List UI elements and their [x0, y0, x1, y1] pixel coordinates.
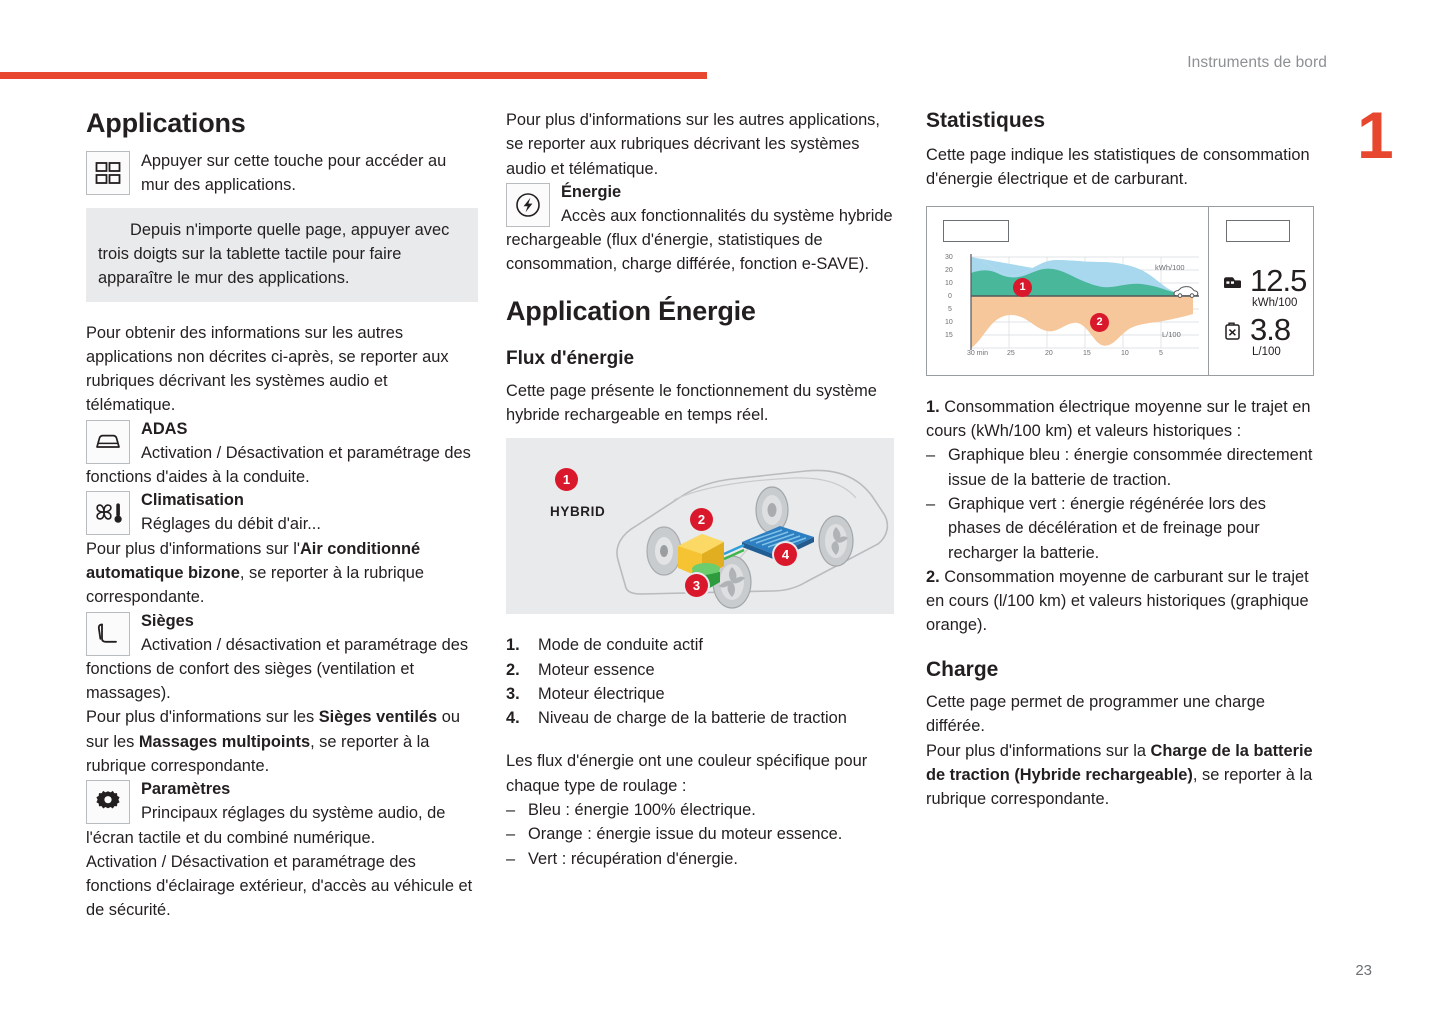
chart-callout-1: 1 — [1013, 278, 1032, 297]
dash-marker: – — [506, 847, 515, 871]
readout-electric-value: 12.5 — [1250, 265, 1306, 296]
chart-tab-placeholder — [943, 220, 1009, 242]
list-item-label: Bleu : énergie 100% électrique. — [528, 801, 756, 819]
dash-marker: – — [926, 492, 935, 516]
paragraph-other-apps: Pour obtenir des informations sur les au… — [86, 321, 478, 418]
paragraph-params-more: Activation / Désactivation et paramétrag… — [86, 850, 478, 923]
energy-flow-figure: HYBRID 1 2 3 4 — [506, 438, 894, 614]
list-item-label: Niveau de charge de la batterie de tract… — [538, 709, 847, 727]
dash-marker: – — [926, 443, 935, 467]
chart-unit-kwh-label: kWh/100 — [1155, 263, 1185, 272]
readout-fuel-unit: L/100 — [1252, 346, 1281, 358]
y-tick-neg-10: 10 — [945, 319, 953, 326]
list-item: –Graphique vert : énergie régénérée lors… — [926, 492, 1318, 565]
dash-marker: – — [506, 798, 515, 822]
sieges-more-part1: Pour plus d'informations sur les — [86, 708, 319, 726]
dash-marker: – — [506, 822, 515, 846]
list-item-label: Vert : récupération d'énergie. — [528, 850, 738, 868]
section-title-statistiques: Statistiques — [926, 108, 1318, 133]
list-item-number: 1. — [506, 633, 520, 657]
seat-icon — [86, 612, 130, 656]
entry-applications-text: Appuyer sur cette touche pour accéder au… — [141, 152, 446, 194]
energy-color-list: –Bleu : énergie 100% électrique. –Orange… — [506, 798, 898, 871]
chart-callout-2: 2 — [1090, 313, 1109, 332]
paragraph-colors-intro: Les flux d'énergie ont une couleur spéci… — [506, 749, 898, 798]
list-item: 4.Niveau de charge de la batterie de tra… — [506, 706, 898, 730]
entry-sieges-text: Activation / désactivation et paramétrag… — [86, 636, 468, 703]
figure-divider — [1208, 207, 1209, 375]
paragraph-sieges-more: Pour plus d'informations sur les Sièges … — [86, 705, 478, 778]
entry-parametres: Paramètres Principaux réglages du systèm… — [86, 778, 478, 850]
statistics-screen-figure: 30 20 10 0 5 10 15 30 min 25 20 15 10 5 … — [926, 206, 1314, 376]
section-title-charge: Charge — [926, 657, 1318, 682]
gear-icon — [86, 780, 130, 824]
readout-electric-unit: kWh/100 — [1252, 297, 1297, 309]
subsection-flux-energie: Flux d'énergie — [506, 348, 898, 371]
app-grid-icon — [86, 151, 130, 195]
fan-thermometer-icon — [86, 491, 130, 535]
energy-flow-legend-list: 1.Mode de conduite actif 2.Moteur essenc… — [506, 633, 898, 730]
entry-climatisation-text: Réglages du débit d'air... — [141, 515, 321, 533]
x-tick-25: 25 — [1007, 350, 1015, 357]
list-item-label: Mode de conduite actif — [538, 636, 703, 654]
chapter-number-tab: 1 — [1357, 104, 1383, 168]
y-tick-0: 0 — [948, 293, 952, 300]
note-2-number: 2. — [926, 568, 940, 586]
x-tick-20: 20 — [1045, 350, 1053, 357]
list-item-label: Moteur essence — [538, 661, 655, 679]
paragraph-note-1: 1. Consommation électrique moyenne sur l… — [926, 395, 1318, 444]
entry-adas-text: Activation / Désactivation et paramétrag… — [86, 444, 471, 486]
paragraph-clim-more: Pour plus d'informations sur l'Air condi… — [86, 537, 478, 610]
entry-energie: Énergie Accès aux fonctionnalités du sys… — [506, 181, 898, 277]
note-1-text: Consommation électrique moyenne sur le t… — [926, 398, 1310, 440]
running-header-title: Instruments de bord — [1187, 54, 1327, 72]
x-tick-10: 10 — [1121, 350, 1129, 357]
list-item: –Graphique bleu : énergie consommée dire… — [926, 443, 1318, 492]
x-tick-15: 15 — [1083, 350, 1091, 357]
list-item: 2.Moteur essence — [506, 658, 898, 682]
entry-climatisation-title: Climatisation — [86, 489, 478, 512]
clim-more-part1: Pour plus d'informations sur l' — [86, 540, 300, 558]
hybrid-mode-label: HYBRID — [550, 504, 605, 519]
list-item: 1.Mode de conduite actif — [506, 633, 898, 657]
column-middle: Pour plus d'informations sur les autres … — [506, 108, 898, 871]
manual-page: Instruments de bord 1 23 Applications Ap… — [0, 0, 1445, 1019]
x-tick-30min: 30 min — [967, 350, 988, 357]
readout-fuel-value: 3.8 — [1250, 314, 1290, 345]
entry-energie-title: Énergie — [506, 181, 898, 204]
entry-applications: Appuyer sur cette touche pour accéder au… — [86, 149, 478, 198]
info-note-text: Depuis n'importe quelle page, appuyer av… — [98, 221, 449, 288]
energy-bolt-icon — [506, 183, 550, 227]
list-item-number: 3. — [506, 682, 520, 706]
entry-sieges-title: Sièges — [86, 610, 478, 633]
y-tick-30: 30 — [945, 254, 953, 261]
entry-sieges: Sièges Activation / désactivation et par… — [86, 610, 478, 706]
fuel-can-icon — [1224, 322, 1241, 345]
page-number: 23 — [1355, 962, 1372, 979]
y-tick-neg-15: 15 — [945, 332, 953, 339]
entry-climatisation: Climatisation Réglages du débit d'air... — [86, 489, 478, 536]
list-item-label: Graphique vert : énergie régénérée lors … — [948, 495, 1266, 562]
paragraph-other-apps-2: Pour plus d'informations sur les autres … — [506, 108, 898, 181]
paragraph-charge-2: Pour plus d'informations sur la Charge d… — [926, 739, 1318, 812]
sieges-more-bold2: Massages multipoints — [139, 733, 310, 751]
entry-parametres-title: Paramètres — [86, 778, 478, 801]
y-tick-10: 10 — [945, 280, 953, 287]
paragraph-flux-intro: Cette page présente le fonctionnement du… — [506, 379, 898, 428]
y-tick-neg-5: 5 — [948, 306, 952, 313]
header-accent-rule — [0, 72, 707, 79]
note-2-text: Consommation moyenne de carburant sur le… — [926, 568, 1309, 635]
list-item-label: Orange : énergie issue du moteur essence… — [528, 825, 842, 843]
statistics-graph-legend: –Graphique bleu : énergie consommée dire… — [926, 443, 1318, 564]
paragraph-charge-1: Cette page permet de programmer une char… — [926, 690, 1318, 739]
column-right: Statistiques Cette page indique les stat… — [926, 108, 1318, 811]
battery-icon — [1223, 275, 1242, 294]
entry-adas-title: ADAS — [86, 418, 478, 441]
list-item: –Orange : énergie issue du moteur essenc… — [506, 822, 898, 846]
note-1-number: 1. — [926, 398, 940, 416]
list-item: –Bleu : énergie 100% électrique. — [506, 798, 898, 822]
charge-2-part1: Pour plus d'informations sur la — [926, 742, 1151, 760]
list-item-label: Moteur électrique — [538, 685, 665, 703]
paragraph-statistiques-intro: Cette page indique les statistiques de c… — [926, 143, 1318, 192]
list-item: 3.Moteur électrique — [506, 682, 898, 706]
sieges-more-bold1: Sièges ventilés — [319, 708, 437, 726]
x-tick-5: 5 — [1159, 350, 1163, 357]
list-item: –Vert : récupération d'énergie. — [506, 847, 898, 871]
entry-adas: ADAS Activation / Désactivation et param… — [86, 418, 478, 490]
list-item-label: Graphique bleu : énergie consommée direc… — [948, 446, 1312, 488]
entry-parametres-text: Principaux réglages du système audio, de… — [86, 804, 445, 846]
list-item-number: 4. — [506, 706, 520, 730]
page-title-applications: Applications — [86, 108, 478, 139]
entry-energie-text: Accès aux fonctionnalités du système hyb… — [506, 207, 893, 274]
paragraph-note-2: 2. Consommation moyenne de carburant sur… — [926, 565, 1318, 638]
y-tick-20: 20 — [945, 267, 953, 274]
list-item-number: 2. — [506, 658, 520, 682]
info-note-box: Depuis n'importe quelle page, appuyer av… — [86, 208, 478, 302]
readout-tab-placeholder — [1226, 220, 1290, 242]
car-front-icon — [86, 420, 130, 464]
column-left: Applications Appuyer sur cette touche po… — [86, 108, 478, 923]
section-title-application-energie: Application Énergie — [506, 296, 898, 327]
chart-unit-l-label: L/100 — [1162, 330, 1181, 339]
